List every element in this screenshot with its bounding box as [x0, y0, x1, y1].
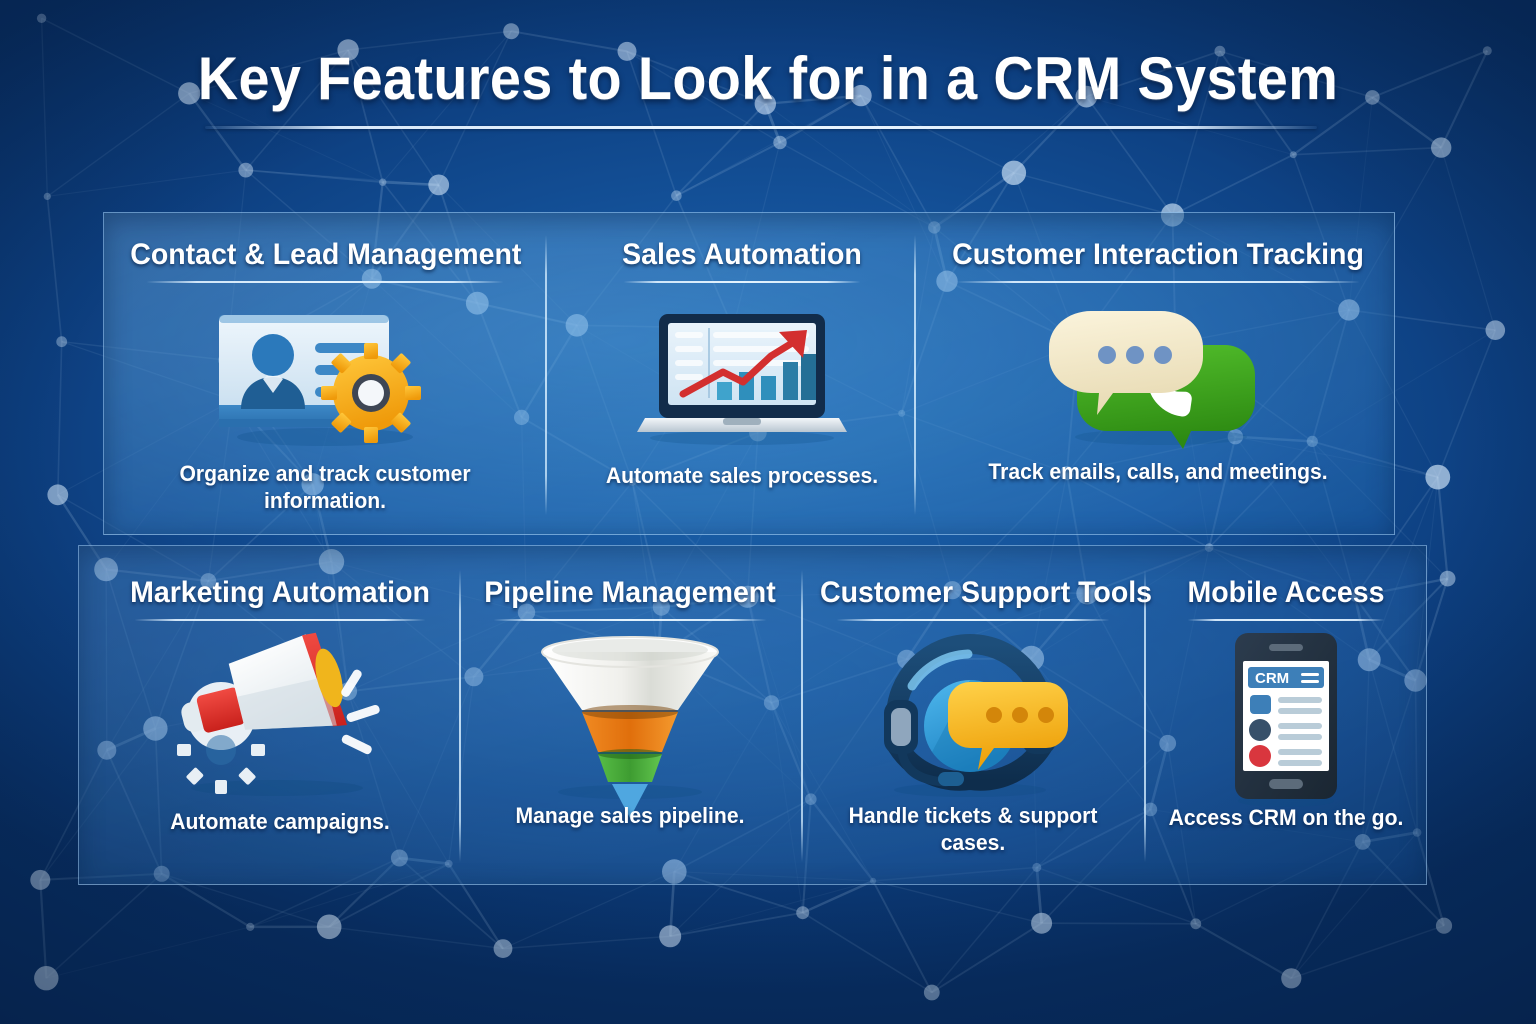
- headset-chat-icon: [812, 631, 1134, 801]
- svg-text:CRM: CRM: [1255, 670, 1289, 687]
- feature-card-title: Mobile Access: [1164, 576, 1407, 610]
- page-title: Key Features to Look for in a CRM System: [54, 44, 1482, 113]
- feature-card-title: Customer Support Tools: [820, 576, 1126, 610]
- panel-divider-1: [545, 235, 547, 515]
- feature-card-description: Organize and track customer information.: [128, 461, 522, 515]
- panel-divider-3: [459, 570, 461, 862]
- feature-card-title-underline: [147, 281, 503, 283]
- feature-card-title-underline: [837, 619, 1109, 621]
- feature-card-title-underline: [957, 281, 1359, 283]
- sales-funnel-icon: [470, 631, 790, 801]
- feature-card-title: Sales Automation: [571, 238, 913, 272]
- feature-card-title: Marketing Automation: [117, 576, 444, 610]
- megaphone-gear-icon: [108, 635, 452, 805]
- feature-card-contact-lead-management[interactable]: Contact & Lead Management: [120, 238, 530, 515]
- feature-card-title-underline: [135, 619, 425, 621]
- contact-card-gear-icon: [120, 301, 530, 451]
- feature-card-title: Pipeline Management: [478, 576, 782, 610]
- feature-card-customer-support-tools[interactable]: Customer Support Tools: [812, 576, 1134, 857]
- feature-card-description: Track emails, calls, and meetings.: [941, 459, 1375, 486]
- feature-card-marketing-automation[interactable]: Marketing Automation: [108, 576, 452, 836]
- page-title-underline: [205, 126, 1317, 129]
- feature-card-description: Automate campaigns.: [115, 809, 445, 836]
- feature-card-description: Manage sales pipeline.: [476, 803, 783, 830]
- page-title-wrap: Key Features to Look for in a CRM System: [0, 44, 1536, 113]
- feature-card-description: Access CRM on the go.: [1163, 805, 1409, 832]
- feature-card-customer-interaction-tracking[interactable]: Customer Interaction Tracking: [932, 238, 1384, 486]
- feature-card-title-underline: [494, 619, 766, 621]
- panel-divider-4: [801, 570, 803, 862]
- feature-card-pipeline-management[interactable]: Pipeline Management: [470, 576, 790, 830]
- feature-card-description: Automate sales processes.: [569, 463, 915, 490]
- panel-divider-5: [1144, 570, 1146, 862]
- feature-card-mobile-access[interactable]: Mobile Access CRM: [1158, 576, 1414, 832]
- feature-card-title-underline: [624, 281, 860, 283]
- laptop-growth-chart-icon: [562, 303, 922, 453]
- feature-card-description: Handle tickets & support cases.: [818, 803, 1127, 857]
- chat-phone-bubbles-icon: [932, 299, 1384, 449]
- smartphone-crm-icon: CRM: [1158, 633, 1414, 803]
- feature-card-title: Contact & Lead Management: [130, 238, 520, 272]
- feature-card-sales-automation[interactable]: Sales Automation: [562, 238, 922, 490]
- feature-card-title: Customer Interaction Tracking: [943, 238, 1372, 272]
- feature-card-title-underline: [1188, 619, 1384, 621]
